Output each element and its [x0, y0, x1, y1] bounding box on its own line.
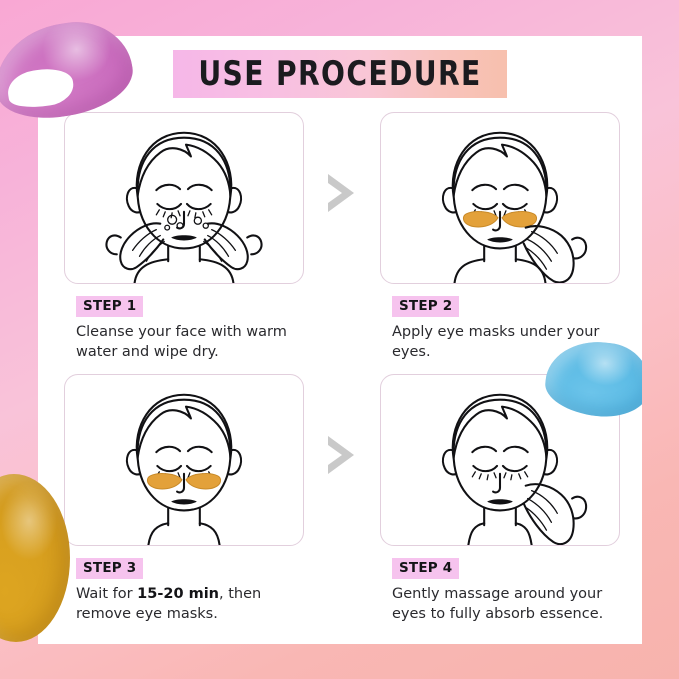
- steps-row-1: STEP 1 Cleanse your face with warm water…: [38, 112, 642, 362]
- face-resting-with-patches-illustration: [65, 375, 303, 545]
- step-3-label: STEP 3: [76, 558, 143, 579]
- step-cell-3: STEP 3 Wait for 15-20 min, then remove e…: [64, 374, 304, 624]
- page-title: USE PROCEDURE: [198, 54, 481, 94]
- step-3-description: Wait for 15-20 min, then remove eye mask…: [76, 584, 304, 624]
- step-1-illustration: [64, 112, 304, 284]
- step-cell-2: STEP 2 Apply eye masks under your eyes.: [380, 112, 620, 362]
- steps-row-2: STEP 3 Wait for 15-20 min, then remove e…: [38, 374, 642, 624]
- step-4-label: STEP 4: [392, 558, 459, 579]
- step-arrow-2: [304, 432, 380, 478]
- step-2-description: Apply eye masks under your eyes.: [392, 322, 620, 362]
- step-2-illustration: [380, 112, 620, 284]
- step-3-text-bold: 15-20 min: [137, 586, 219, 602]
- use-procedure-infographic: USE PROCEDURE: [0, 0, 679, 679]
- step-2-label: STEP 2: [392, 296, 459, 317]
- step-cell-1: STEP 1 Cleanse your face with warm water…: [64, 112, 304, 362]
- step-3-illustration: [64, 374, 304, 546]
- face-apply-patches-illustration: [381, 113, 619, 283]
- chevron-right-icon: [320, 432, 364, 478]
- face-washing-illustration: [65, 113, 303, 283]
- step-cell-4: STEP 4 Gently massage around your eyes t…: [380, 374, 620, 624]
- steps-grid: STEP 1 Cleanse your face with warm water…: [38, 112, 642, 636]
- page-title-banner: USE PROCEDURE: [173, 50, 507, 98]
- chevron-right-icon: [320, 170, 364, 216]
- step-1-label: STEP 1: [76, 296, 143, 317]
- content-frame: USE PROCEDURE: [38, 36, 642, 644]
- face-massage-illustration: [381, 375, 619, 545]
- step-4-description: Gently massage around your eyes to fully…: [392, 584, 620, 624]
- step-arrow-1: [304, 170, 380, 216]
- step-1-description: Cleanse your face with warm water and wi…: [76, 322, 304, 362]
- step-3-text-before: Wait for: [76, 586, 137, 602]
- step-4-illustration: [380, 374, 620, 546]
